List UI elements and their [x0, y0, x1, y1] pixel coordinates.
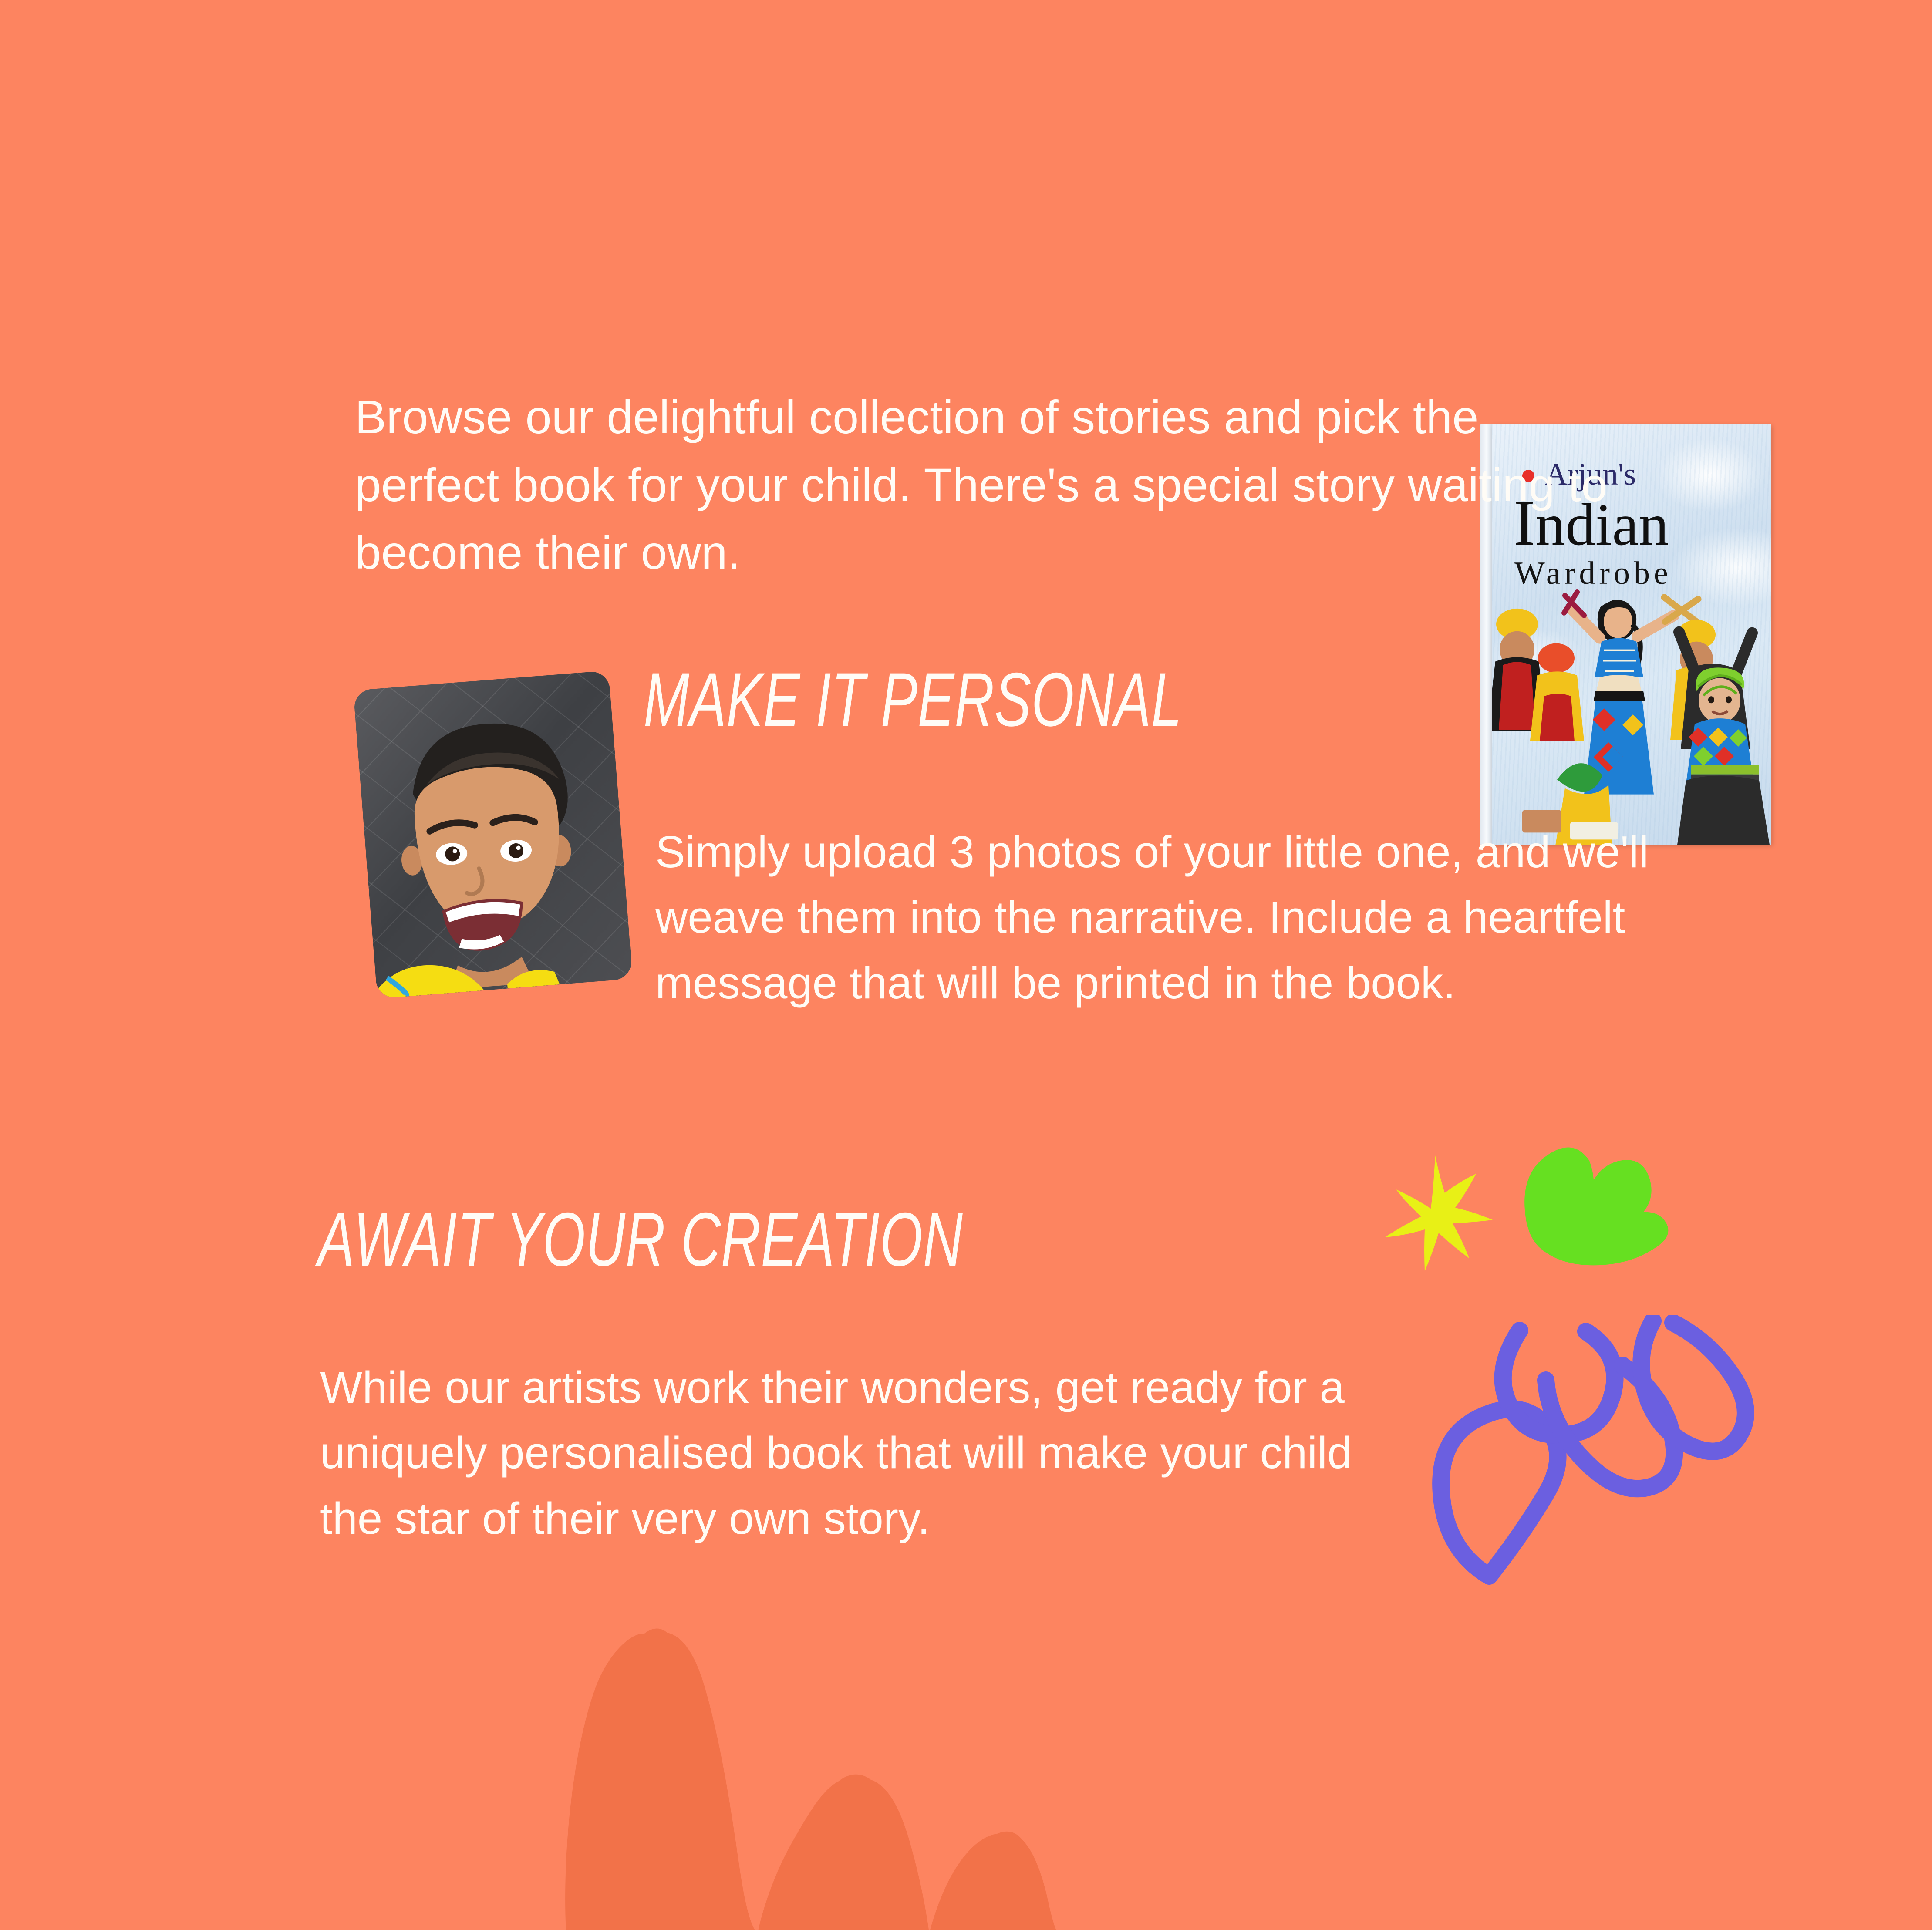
section-body-await-your-creation: While our artists work their wonders, ge… [320, 1355, 1374, 1551]
star-doodle-icon [1372, 1154, 1502, 1297]
brush-watermark-shape [514, 1585, 1385, 1930]
intro-paragraph: Browse our delightful collection of stor… [355, 383, 1618, 586]
child-photo [353, 670, 633, 999]
poster-page: Arjun's Indian Wardrobe [0, 0, 1932, 1930]
spiral-scribble-doodle-icon [1411, 1315, 1755, 1585]
child-portrait-illustration [353, 670, 633, 999]
child-photo-frame [353, 670, 633, 999]
section-heading-make-it-personal: MAKE IT PERSONAL [644, 662, 1182, 738]
section-body-make-it-personal: Simply upload 3 photos of your little on… [655, 819, 1726, 1016]
section-heading-await-your-creation: AWAIT YOUR CREATION [318, 1202, 963, 1278]
leaf-sprout-doodle-icon [1515, 1141, 1672, 1271]
book-illustration-dancers [1492, 584, 1771, 845]
